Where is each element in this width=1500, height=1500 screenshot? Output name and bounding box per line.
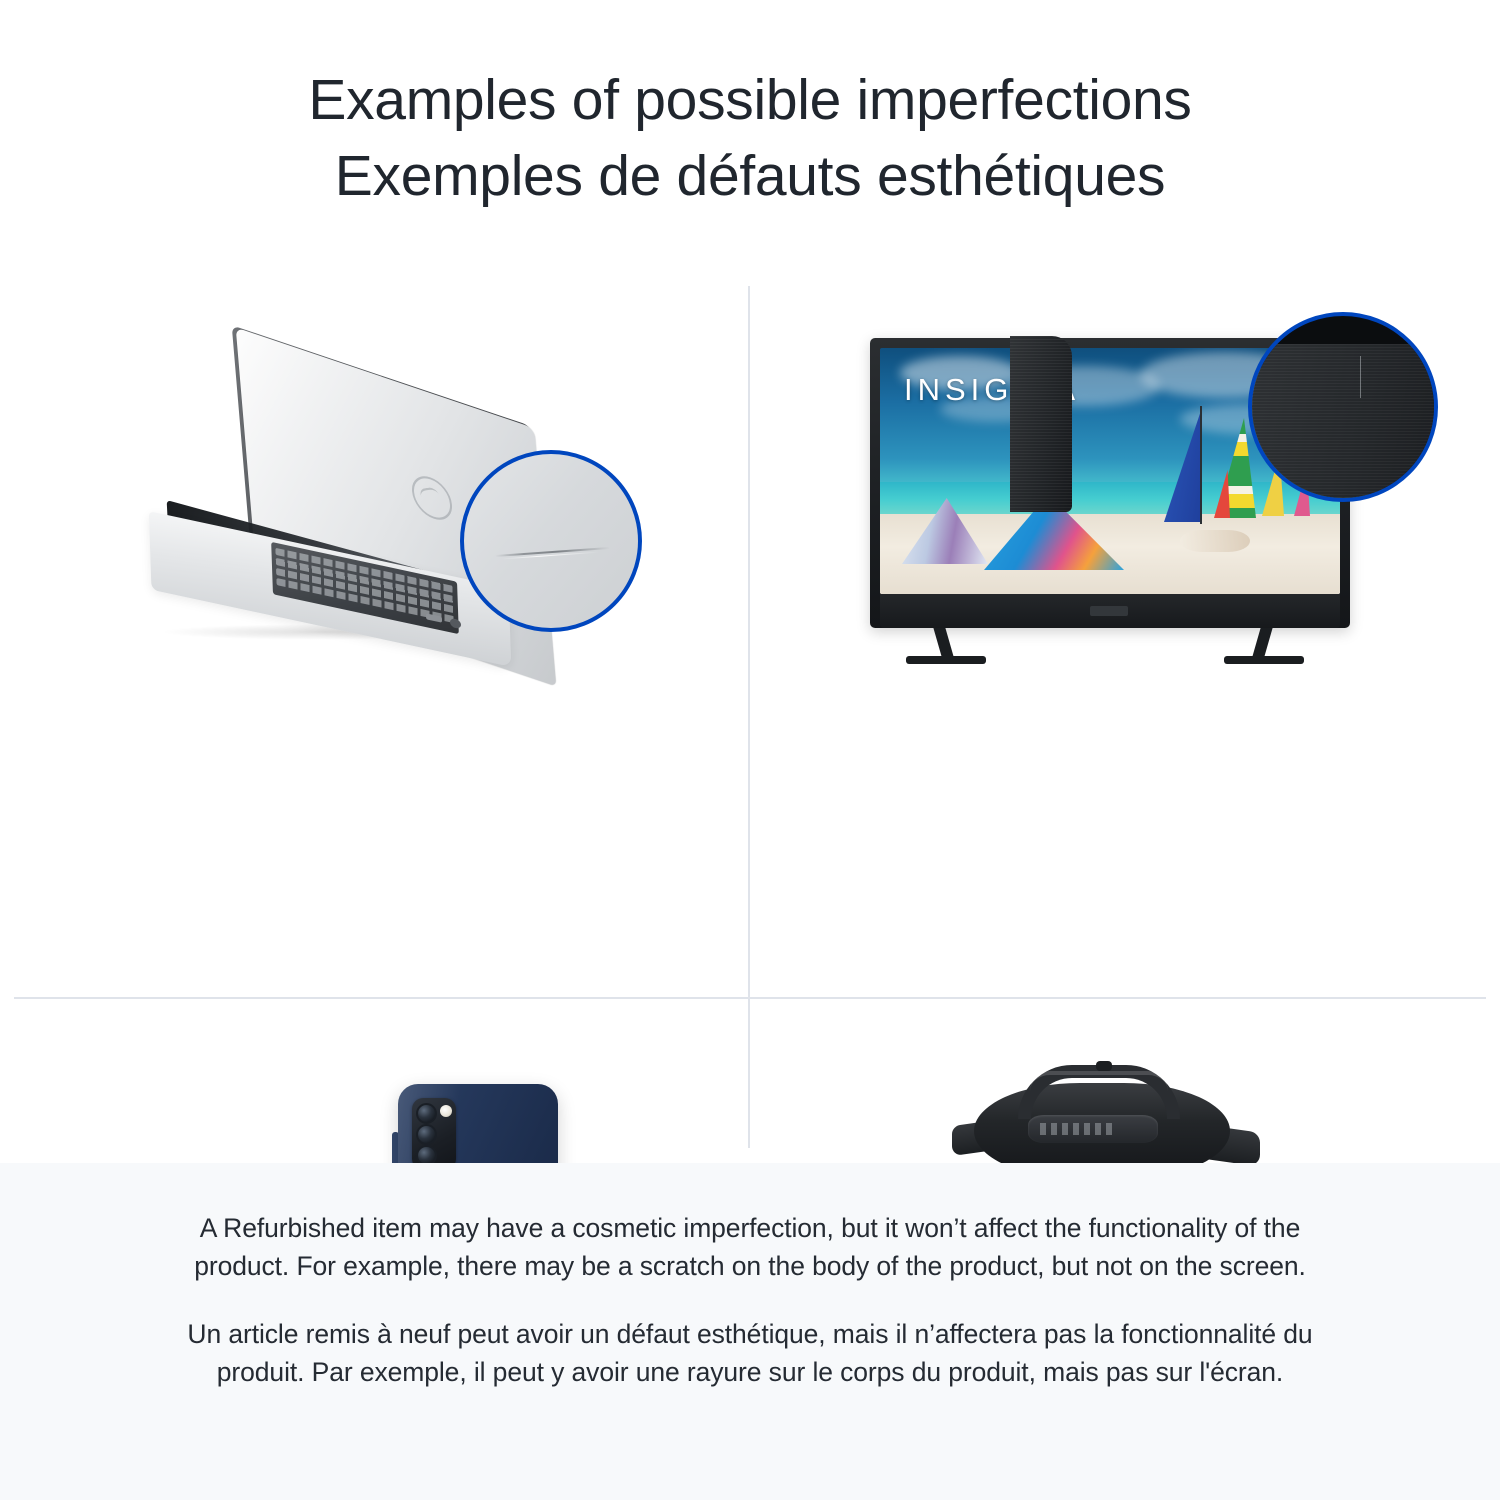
refurbished-imperfections-infographic: Examples of possible imperfections Exemp… [0, 0, 1500, 1500]
laptop-magnifier-circle [460, 450, 642, 632]
tv-stand-leg-right [1224, 628, 1304, 666]
examples-grid: INSIGNIA [0, 272, 1500, 1163]
television-illustration: INSIGNIA [860, 312, 1360, 672]
description-text-fr: Un article remis à neuf peut avoir un dé… [185, 1315, 1315, 1391]
camera-lens-icon [416, 1103, 437, 1124]
cooker-steam-valve [1096, 1061, 1112, 1071]
tv-status-led [1090, 606, 1128, 616]
description-text-en: A Refurbished item may have a cosmetic i… [185, 1209, 1315, 1285]
tv-magnified-bezel-texture [1248, 344, 1438, 502]
sailboat-blue-sail [1164, 412, 1202, 522]
television-panel: INSIGNIA [750, 272, 1500, 997]
header: Examples of possible imperfections Exemp… [0, 0, 1500, 272]
tv-bezel-imperfection-mark [1360, 356, 1361, 398]
laptop-illustration [150, 372, 670, 672]
sailboat-mast [1200, 406, 1202, 524]
page-title-fr: Exemples de défauts esthétiques [335, 138, 1165, 214]
page-title-en: Examples of possible imperfections [308, 62, 1191, 138]
footer-description: A Refurbished item may have a cosmetic i… [0, 1163, 1500, 1500]
tv-magnifier-circle [1248, 312, 1438, 502]
tv-bezel-corner-texture [1010, 336, 1072, 512]
laptop-panel [0, 272, 748, 997]
beach-object [1180, 530, 1250, 552]
camera-flash-icon [440, 1105, 452, 1117]
pressure-cooker-panel: INSIGNIA 8:00 8:00 Manual Keep Warm Dela… [750, 999, 1500, 1163]
cooker-lid-vent [1028, 1115, 1158, 1143]
smartphone-panel [0, 999, 748, 1163]
tv-stand-leg-left [906, 628, 986, 666]
camera-lens-icon [416, 1124, 437, 1145]
cooker-handle-highlight [1030, 1071, 1168, 1091]
phone-camera-module [412, 1098, 456, 1170]
